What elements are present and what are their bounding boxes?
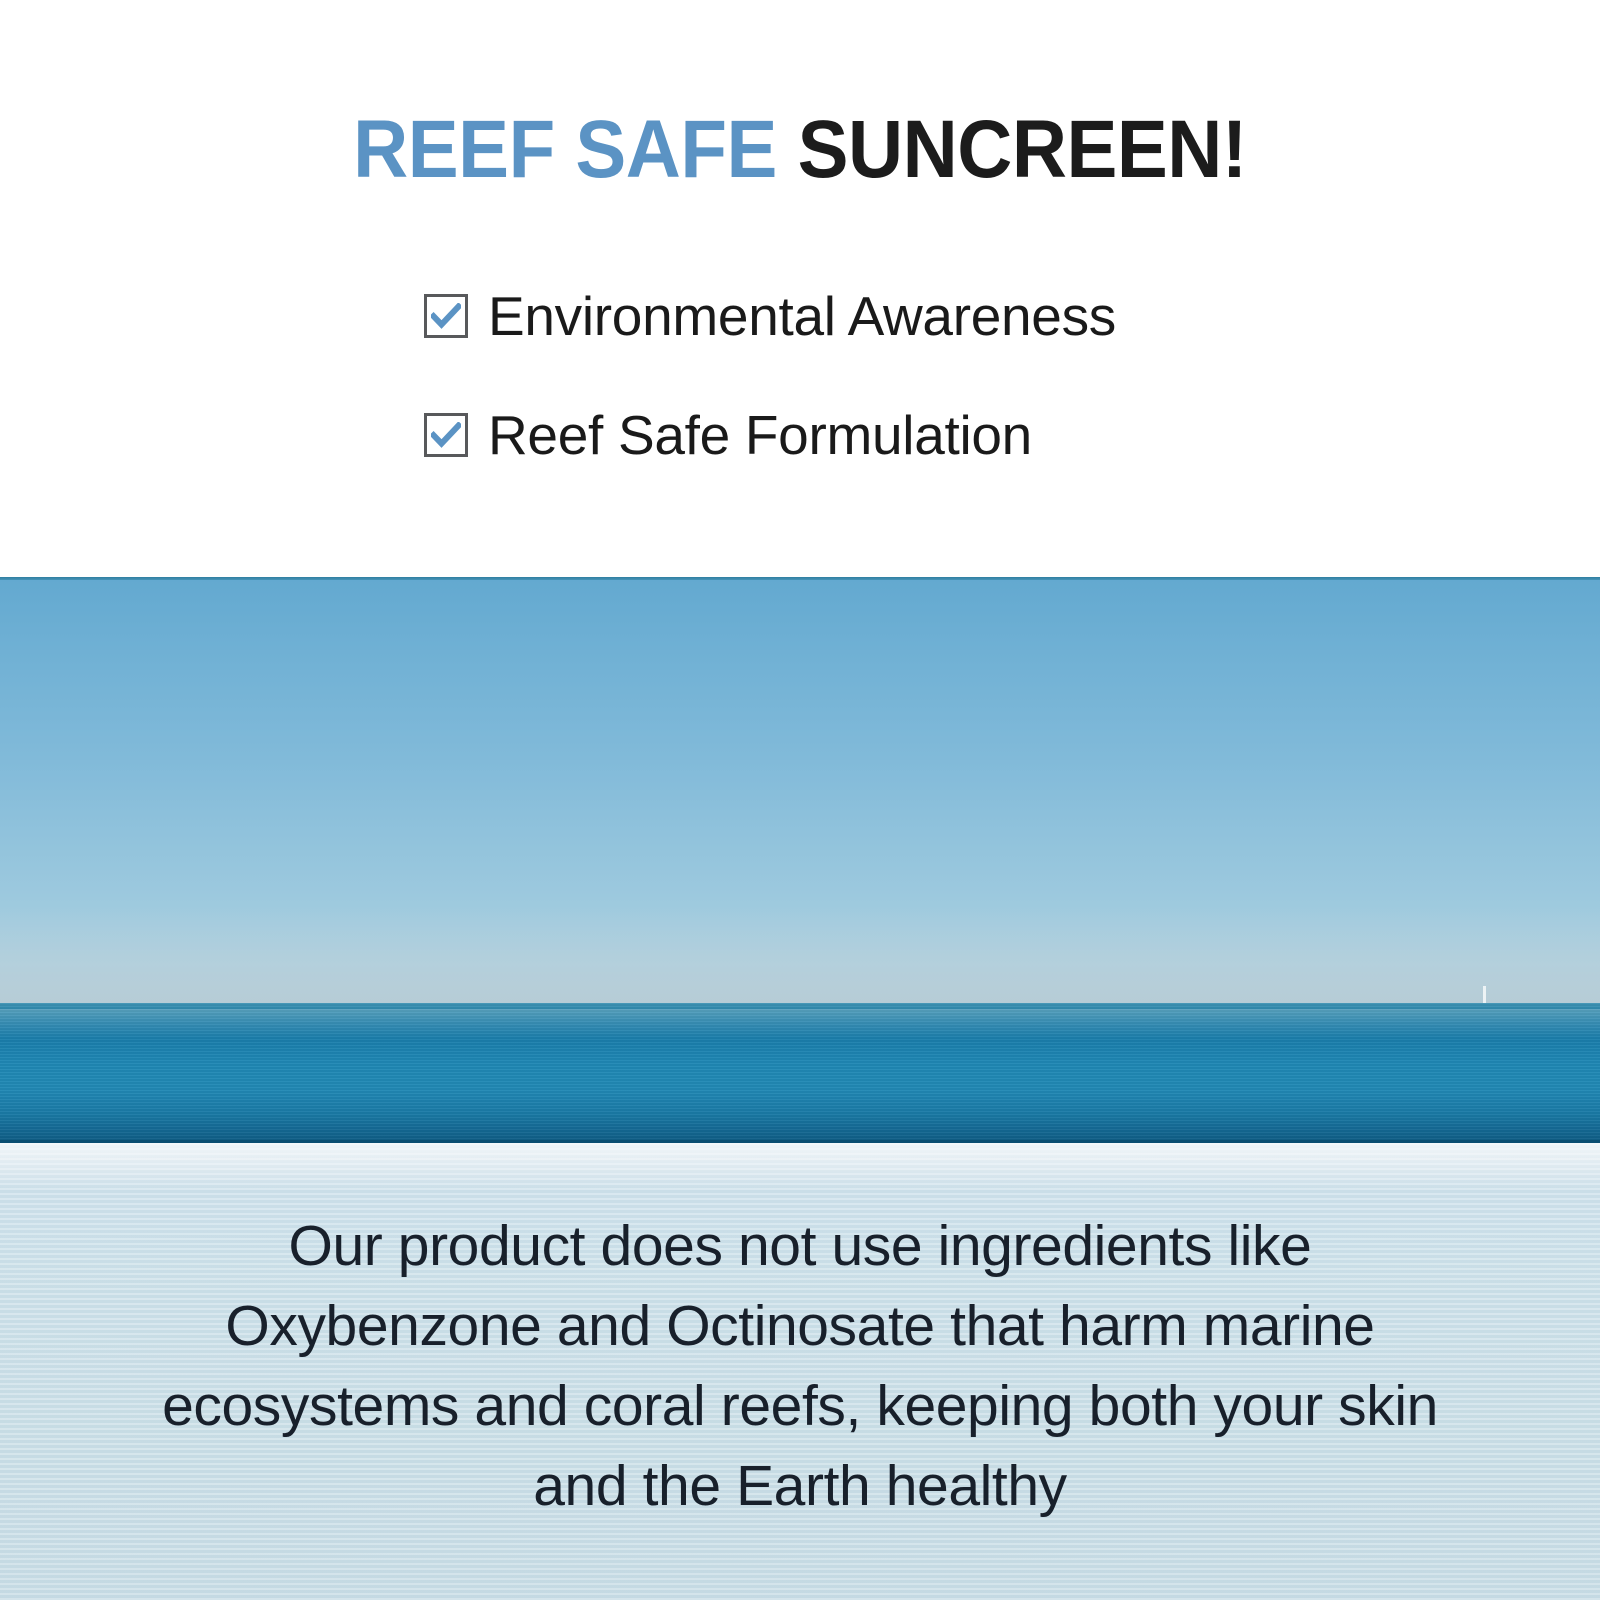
sailboat-icon: [1483, 986, 1486, 1004]
panel-sheen: [0, 1143, 1600, 1191]
list-item-label: Reef Safe Formulation: [488, 405, 1032, 465]
description-text: Our product does not use ingredients lik…: [0, 1206, 1600, 1526]
description-line: ecosystems and coral reefs, keeping both…: [0, 1366, 1600, 1446]
feature-check-list: Environmental Awareness Reef Safe Formul…: [0, 278, 1600, 516]
list-item-label: Environmental Awareness: [488, 286, 1116, 346]
top-white-panel: REEF SAFE SUNCREEN! Environmental Awaren…: [0, 0, 1600, 577]
description-line: Oxybenzone and Octinosate that harm mari…: [0, 1286, 1600, 1366]
reef-safe-suncreen-panel: REEF SAFE SUNCREEN! Environmental Awaren…: [0, 0, 1600, 1600]
bottom-description-panel: Our product does not use ingredients lik…: [0, 1143, 1600, 1600]
checkbox-checked-icon[interactable]: [424, 413, 468, 457]
description-line: Our product does not use ingredients lik…: [0, 1206, 1600, 1286]
list-item: Reef Safe Formulation: [0, 397, 1600, 473]
sea-ripple-texture: [0, 1003, 1600, 1141]
page-title-highlight: REEF SAFE: [353, 104, 777, 195]
horizon-haze: [0, 907, 1600, 1005]
sea-region: [0, 1003, 1600, 1141]
page-title: REEF SAFE SUNCREEN!: [56, 104, 1544, 196]
list-item: Environmental Awareness: [0, 278, 1600, 354]
description-line: and the Earth healthy: [0, 1446, 1600, 1526]
ocean-horizon-photo: [0, 577, 1600, 1143]
page-title-rest: SUNCREEN!: [777, 104, 1247, 195]
checkbox-checked-icon[interactable]: [424, 294, 468, 338]
